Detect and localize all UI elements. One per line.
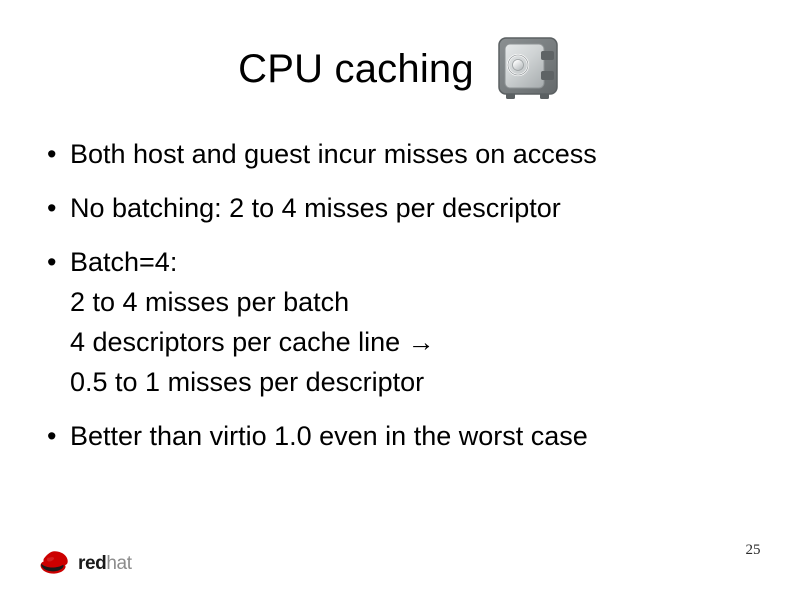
list-item: • Both host and guest incur misses on ac… (44, 134, 764, 174)
slide: CPU caching (0, 0, 800, 600)
bullet-dot-icon: • (44, 188, 70, 228)
bullet-text: Batch=4: 2 to 4 misses per batch 4 descr… (70, 242, 764, 402)
list-item: • Better than virtio 1.0 even in the wor… (44, 416, 764, 456)
bullet-text: No batching: 2 to 4 misses per descripto… (70, 188, 764, 228)
title-row: CPU caching (0, 34, 800, 104)
bullet-text: Both host and guest incur misses on acce… (70, 134, 764, 174)
bullet-dot-icon: • (44, 242, 70, 282)
logo-text-hat: hat (106, 553, 131, 574)
safe-vault-icon (496, 34, 562, 104)
list-item: • No batching: 2 to 4 misses per descrip… (44, 188, 764, 228)
page-number: 25 (738, 542, 768, 559)
list-item: • Batch=4: 2 to 4 misses per batch 4 des… (44, 242, 764, 402)
redhat-logo: redhat (38, 550, 132, 577)
bullet-dot-icon: • (44, 416, 70, 456)
page-title: CPU caching (238, 47, 474, 91)
logo-text-red: red (78, 553, 106, 574)
bullet-dot-icon: • (44, 134, 70, 174)
bullet-list: • Both host and guest incur misses on ac… (44, 134, 764, 470)
redhat-shadowman-icon (38, 550, 71, 577)
bullet-text: Better than virtio 1.0 even in the worst… (70, 416, 764, 456)
